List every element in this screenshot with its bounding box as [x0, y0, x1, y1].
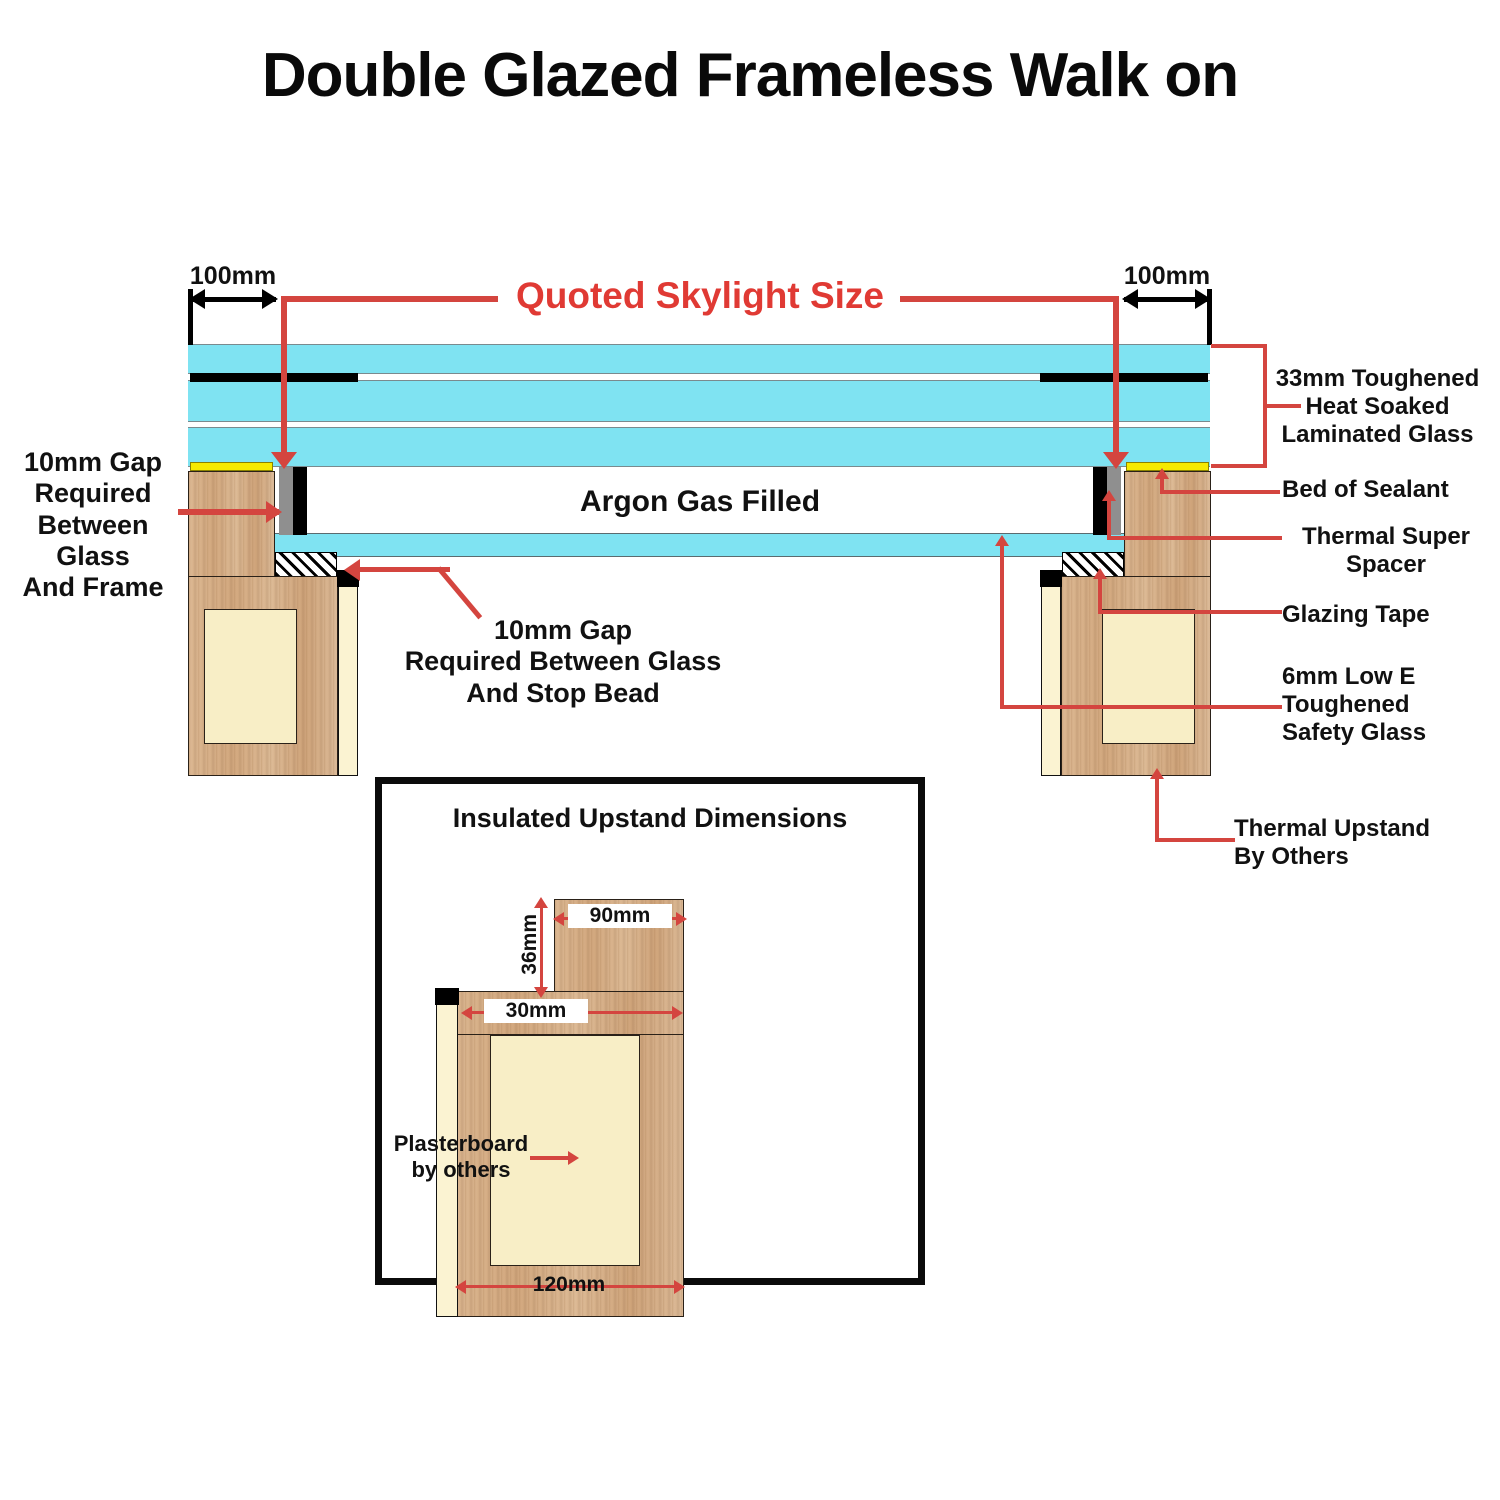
callout-thermal-super-spacer-label: Thermal Super Spacer	[1272, 523, 1500, 579]
callout-low-e-glass-label: 6mm Low E Toughened Safety Glass	[1282, 663, 1500, 746]
leader-bed-of-sealant-v	[1160, 478, 1164, 492]
leader-bed-of-sealant-arrowhead	[1155, 468, 1169, 479]
page-title: Double Glazed Frameless Walk on	[0, 40, 1500, 111]
inset-dim-36mm-label: 36mm	[518, 914, 542, 975]
diagram-canvas: Double Glazed Frameless Walk on 100mm 1	[0, 0, 1500, 1500]
dim-arrowhead-right-a	[1122, 289, 1138, 309]
interlayer-strip-left	[190, 373, 358, 382]
leader-thermal-upstand-h	[1155, 838, 1235, 842]
inset-dim-90mm-label: 90mm	[568, 904, 672, 928]
callout-thermal-upstand-label: Thermal Upstand By Others	[1234, 815, 1500, 871]
leader-low-e-arrowhead	[995, 535, 1009, 546]
leader-glazing-tape-h	[1098, 610, 1282, 614]
bracket-laminated-top	[1211, 344, 1267, 348]
dimension-label-left: 100mm	[178, 262, 288, 291]
glazing-tape-left	[275, 552, 337, 577]
plasterboard-left	[338, 585, 358, 776]
callout-stop-bead-arrowhead	[344, 559, 360, 581]
callout-bed-of-sealant-label: Bed of Sealant	[1282, 476, 1500, 504]
upstand-insulation-right	[1102, 609, 1195, 744]
inset-plasterboard-leader	[530, 1156, 572, 1160]
leader-low-e-h	[1000, 705, 1282, 709]
leader-glazing-tape-v	[1098, 578, 1102, 614]
spacer-seal-left	[293, 467, 307, 535]
leader-spacer-h	[1107, 536, 1282, 540]
quoted-leader-right-vertical	[1113, 296, 1119, 460]
leader-glazing-tape-arrowhead	[1093, 568, 1107, 579]
bracket-laminated-bottom	[1211, 464, 1267, 468]
upstand-kerb-left	[188, 471, 275, 577]
inset-dim-120mm-label: 120mm	[512, 1273, 626, 1297]
glass-layer-top	[188, 344, 1210, 374]
callout-gap-frame-label: 10mm Gap Required Between Glass And Fram…	[8, 447, 178, 604]
quoted-arrowhead-left	[271, 452, 297, 469]
inset-dim-120mm-arrow-left	[455, 1280, 466, 1294]
insulated-upstand-inset-panel: Insulated Upstand Dimensions 90mm 36mm 3…	[375, 777, 925, 1285]
quoted-skylight-size-label: Quoted Skylight Size	[498, 275, 902, 318]
callout-stop-bead-label: 10mm Gap Required Between Glass And Stop…	[388, 615, 738, 709]
quoted-leader-right-horizontal	[900, 296, 1119, 302]
upstand-insulation-left	[204, 609, 297, 744]
inset-dim-30mm-arrow-right	[672, 1006, 683, 1020]
upstand-kerb-right	[1124, 471, 1211, 577]
leader-thermal-upstand-arrowhead	[1150, 768, 1164, 779]
dim-arrowhead-right-b	[1195, 289, 1211, 309]
callout-laminated-glass-label: 33mm Toughened Heat Soaked Laminated Gla…	[1255, 365, 1500, 448]
interlayer-strip-right	[1040, 373, 1208, 382]
glass-layer-bottom	[188, 427, 1210, 467]
plasterboard-right	[1041, 585, 1061, 776]
inset-dim-90mm-arrow-right	[676, 912, 687, 926]
dim-arrowhead-left-a	[189, 289, 205, 309]
quoted-leader-left-vertical	[281, 296, 287, 460]
quoted-leader-left-horizontal	[283, 296, 498, 302]
inset-dim-30mm-label: 30mm	[484, 999, 588, 1023]
callout-gap-frame-line	[178, 509, 279, 515]
inset-plasterboard-arrowhead	[568, 1151, 579, 1165]
bed-of-sealant-left	[190, 462, 273, 471]
dim-arrowhead-left-b	[262, 289, 278, 309]
leader-low-e-v	[1000, 545, 1004, 707]
glass-layer-middle	[188, 380, 1210, 422]
inset-dim-36mm-arrow-top	[534, 897, 548, 908]
leader-bed-of-sealant-h	[1160, 490, 1280, 494]
inset-plasterboard-cap	[435, 988, 459, 1005]
inset-title: Insulated Upstand Dimensions	[382, 802, 918, 834]
spacer-seal-right	[1093, 467, 1107, 535]
inset-dim-36mm-arrow-bottom	[534, 987, 548, 998]
inset-dim-120mm-arrow-right	[674, 1280, 685, 1294]
leader-thermal-upstand-v	[1155, 778, 1159, 840]
inset-dim-90mm-arrow-left	[553, 912, 564, 926]
callout-stop-bead-line-diag	[437, 566, 483, 619]
leader-spacer-v	[1107, 500, 1111, 540]
inset-dim-30mm-arrow-left	[461, 1006, 472, 1020]
inset-plasterboard-label: Plasterboard by others	[390, 1131, 532, 1182]
argon-gas-filled-label: Argon Gas Filled	[500, 485, 900, 520]
callout-gap-frame-arrowhead	[266, 501, 282, 523]
quoted-arrowhead-right	[1103, 452, 1129, 469]
leader-spacer-arrowhead	[1102, 490, 1116, 501]
callout-glazing-tape-label: Glazing Tape	[1282, 601, 1500, 629]
dimension-label-right: 100mm	[1112, 262, 1222, 291]
plasterboard-cap-right	[1040, 570, 1062, 587]
